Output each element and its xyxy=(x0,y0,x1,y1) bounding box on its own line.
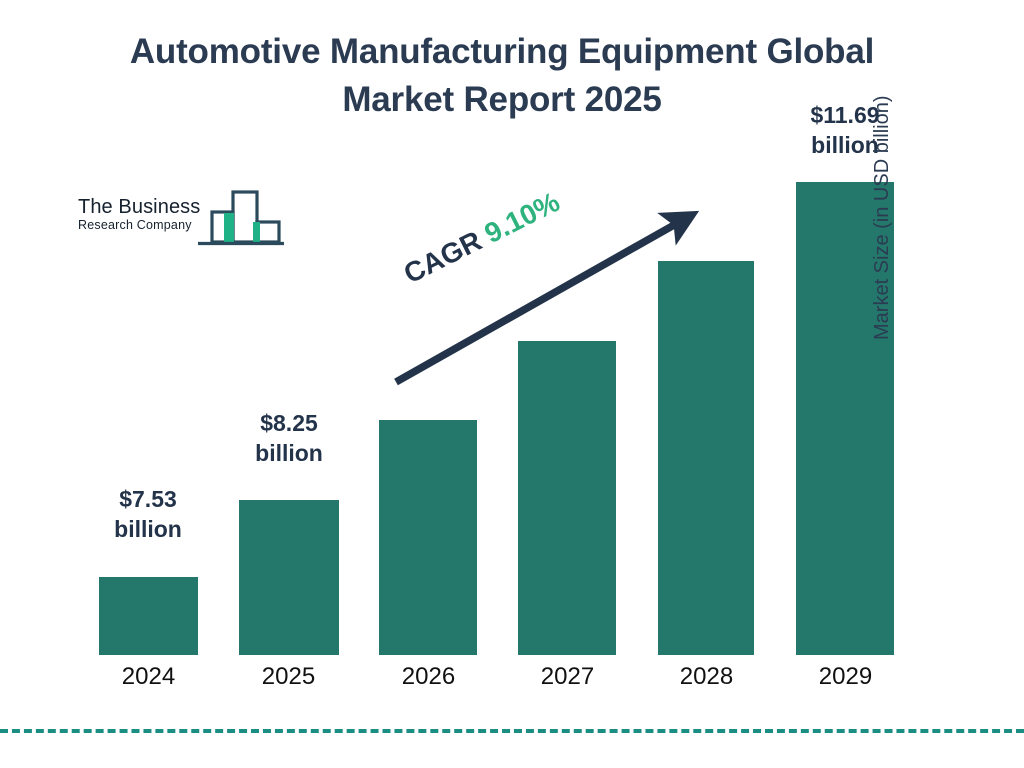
x-tick-2025: 2025 xyxy=(238,662,339,692)
bar-2025[interactable] xyxy=(239,500,339,655)
bar-chart-plot-area: $7.53 billion $8.25 billion $11.69 billi… xyxy=(0,0,1024,700)
y-axis-title: Market Size (in USD billion) xyxy=(871,40,894,340)
bar-2026[interactable] xyxy=(379,420,477,655)
bar-value-2024: $7.53 billion xyxy=(68,484,228,544)
x-tick-2028: 2028 xyxy=(656,662,757,692)
x-tick-2027: 2027 xyxy=(517,662,618,692)
bar-2028[interactable] xyxy=(658,261,754,655)
x-tick-2024: 2024 xyxy=(98,662,199,692)
x-tick-2029: 2029 xyxy=(795,662,896,692)
cagr-label: CAGR 9.10% xyxy=(399,172,592,290)
bar-2027[interactable] xyxy=(518,341,616,655)
bar-2024[interactable] xyxy=(99,577,198,655)
bar-value-2029: $11.69 billion xyxy=(765,100,925,160)
chart-page: Automotive Manufacturing Equipment Globa… xyxy=(0,0,1024,768)
cagr-prefix: CAGR xyxy=(399,225,487,290)
bar-value-2025: $8.25 billion xyxy=(209,408,369,468)
x-tick-2026: 2026 xyxy=(378,662,479,692)
cagr-value: 9.10% xyxy=(480,186,565,249)
footer-divider xyxy=(0,729,1024,733)
